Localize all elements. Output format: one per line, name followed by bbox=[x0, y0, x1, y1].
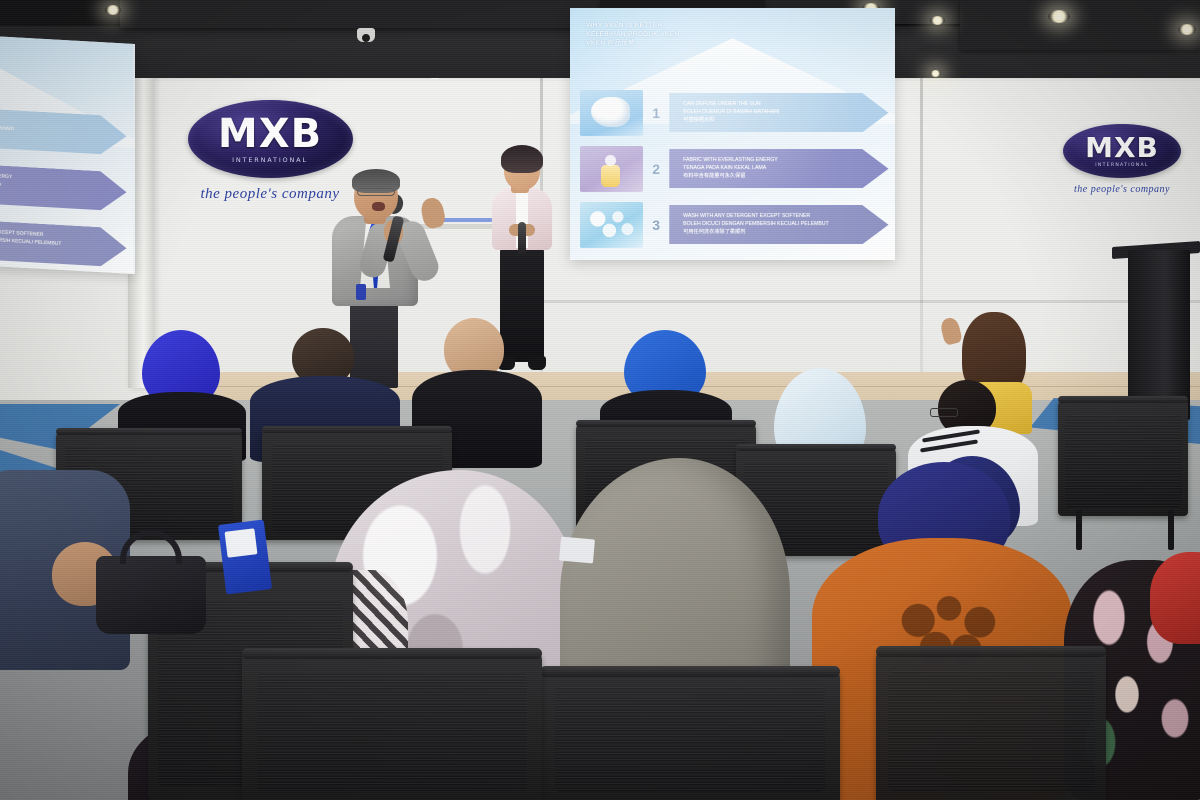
slide-row-arrow: WASH WITH ANY DETERGENT EXCEPT SOFTENER … bbox=[0, 216, 127, 268]
presenter-hand-right bbox=[419, 196, 447, 230]
female-hair bbox=[501, 145, 543, 173]
slide-title-line-3: VKEN 产品优势 bbox=[586, 39, 820, 48]
raised-hand-icon[interactable] bbox=[939, 316, 963, 346]
slide-row: 1 CAN DEFUSE UNDER THE SUN BOLEH DIJEMUR… bbox=[580, 86, 889, 139]
mxb-logo-secondary: MXB INTERNATIONAL the people's company bbox=[1052, 124, 1192, 195]
mxb-logo-oval-small: MXB INTERNATIONAL bbox=[1063, 124, 1181, 178]
slide-row-line: 布料中含有能量可永久保留 bbox=[683, 173, 778, 181]
ceiling-camera-icon bbox=[357, 28, 375, 42]
lectern bbox=[1128, 250, 1190, 420]
mxb-wordmark-small: MXB bbox=[1085, 134, 1159, 162]
mxb-tagline-small: the people's company bbox=[1052, 184, 1192, 195]
presenter-mouth bbox=[372, 202, 385, 211]
paper-sheet bbox=[225, 528, 258, 557]
slide-row-line: TENAGA PADA KAIN KEKAL LAMA bbox=[683, 165, 778, 173]
detergent-bottle-icon bbox=[580, 146, 643, 192]
slide-row: 2 FABRIC WITH EVERLASTING ENERGY TENAGA … bbox=[580, 142, 889, 195]
wall-seam-right bbox=[920, 60, 923, 400]
mxb-subtitle-small: INTERNATIONAL bbox=[1095, 164, 1149, 169]
laundry-sun-icon bbox=[580, 90, 643, 136]
slide-row-line: BOLEH DICUCI DENGAN PEMBERSIH KECUALI PE… bbox=[683, 221, 829, 229]
slide-row-line: WASH WITH ANY DETERGENT EXCEPT SOFTENER bbox=[683, 213, 829, 221]
glasses-icon bbox=[357, 188, 395, 196]
projection-screen-main: WHY VKEN IS BETTER KELEBIHAN PRODUK VKEN… bbox=[570, 8, 895, 260]
slide-row-arrow: WASH WITH ANY DETERGENT EXCEPT SOFTENER … bbox=[669, 205, 888, 244]
slide-row-line: CAN DEFUSE UNDER THE SUN bbox=[683, 101, 779, 109]
mxb-subtitle: INTERNATIONAL bbox=[232, 157, 308, 164]
slide-row-line: 可直接晒太阳 bbox=[683, 117, 779, 125]
slide-title-line-2: KELEBIHAN PRODUK VKEN bbox=[586, 30, 820, 39]
chair[interactable] bbox=[540, 666, 840, 800]
slide-row-number: 3 bbox=[643, 217, 669, 233]
slide-row-number: 2 bbox=[643, 161, 669, 177]
microphone-secondary bbox=[518, 222, 526, 256]
slide-row-line: 可用任何洗衣液除了柔顺剂 bbox=[683, 229, 829, 237]
slide-surface-main: WHY VKEN IS BETTER KELEBIHAN PRODUK VKEN… bbox=[570, 8, 895, 260]
handout-sheet bbox=[559, 537, 595, 564]
chair[interactable] bbox=[1058, 396, 1188, 516]
chair-leg bbox=[1168, 510, 1174, 550]
downlight-4 bbox=[930, 16, 945, 25]
downlight-3 bbox=[1048, 10, 1070, 23]
bubbles-icon bbox=[580, 202, 643, 248]
slide-row-number: 1 bbox=[643, 105, 669, 121]
glasses-icon bbox=[930, 408, 958, 417]
chair-leg bbox=[1076, 510, 1082, 550]
seminar-hall-photo: WHY VKEN IS BETTER KELEBIHAN PRODUK VKEN… bbox=[0, 0, 1200, 800]
mxb-logo-oval: MXB INTERNATIONAL bbox=[188, 100, 353, 178]
slide-title-line-1: WHY VKEN IS BETTER bbox=[586, 21, 820, 30]
slide-row: 3 WASH WITH ANY DETERGENT EXCEPT SOFTENE… bbox=[580, 198, 889, 251]
slide-rows-left: 1 CAN DEFUSE UNDER THE SUN BOLEH DIJEMUR… bbox=[0, 92, 127, 273]
slide-row-arrow: FABRIC WITH EVERLASTING ENERGY TENAGA PA… bbox=[669, 149, 888, 188]
slide-rows-main: 1 CAN DEFUSE UNDER THE SUN BOLEH DIJEMUR… bbox=[580, 86, 889, 250]
slide-surface-left: WHY VKEN IS BETTER KELEBIHAN PRODUK VKEN… bbox=[0, 36, 133, 274]
slide-row-line: CAN DEFUSE UNDER THE SUN bbox=[0, 114, 14, 127]
downlight-5 bbox=[930, 70, 941, 77]
ceiling-soffit-left bbox=[120, 0, 600, 28]
slide-title-left: WHY VKEN IS BETTER KELEBIHAN PRODUK VKEN… bbox=[0, 36, 58, 79]
slide-title-main: WHY VKEN IS BETTER KELEBIHAN PRODUK VKEN… bbox=[586, 21, 820, 49]
downlight-6 bbox=[1178, 24, 1196, 35]
slide-row-arrow: CAN DEFUSE UNDER THE SUN BOLEH DIJEMUR D… bbox=[669, 93, 888, 132]
handbag bbox=[96, 556, 206, 634]
wall-panel-seam bbox=[540, 300, 1200, 303]
chair[interactable] bbox=[242, 648, 542, 800]
ceiling-soffit-right bbox=[960, 0, 1200, 50]
slide-row-line: FABRIC WITH EVERLASTING ENERGY bbox=[683, 157, 778, 165]
slide-row-arrow: FABRIC WITH EVERLASTING ENERGY TENAGA PA… bbox=[0, 160, 127, 212]
projection-screen-left: WHY VKEN IS BETTER KELEBIHAN PRODUK VKEN… bbox=[0, 36, 135, 274]
mxb-wordmark: MXB bbox=[218, 114, 322, 154]
slide-row-line: FABRIC WITH EVERLASTING ENERGY bbox=[0, 170, 12, 183]
downlight-1 bbox=[105, 5, 121, 15]
chair[interactable] bbox=[876, 646, 1106, 800]
lanyard-badge bbox=[356, 284, 366, 300]
slide-row-line: BOLEH DIJEMUR DI BAWAH MATAHARI bbox=[683, 109, 779, 117]
slide-row-arrow: CAN DEFUSE UNDER THE SUN BOLEH DIJEMUR D… bbox=[0, 104, 127, 156]
